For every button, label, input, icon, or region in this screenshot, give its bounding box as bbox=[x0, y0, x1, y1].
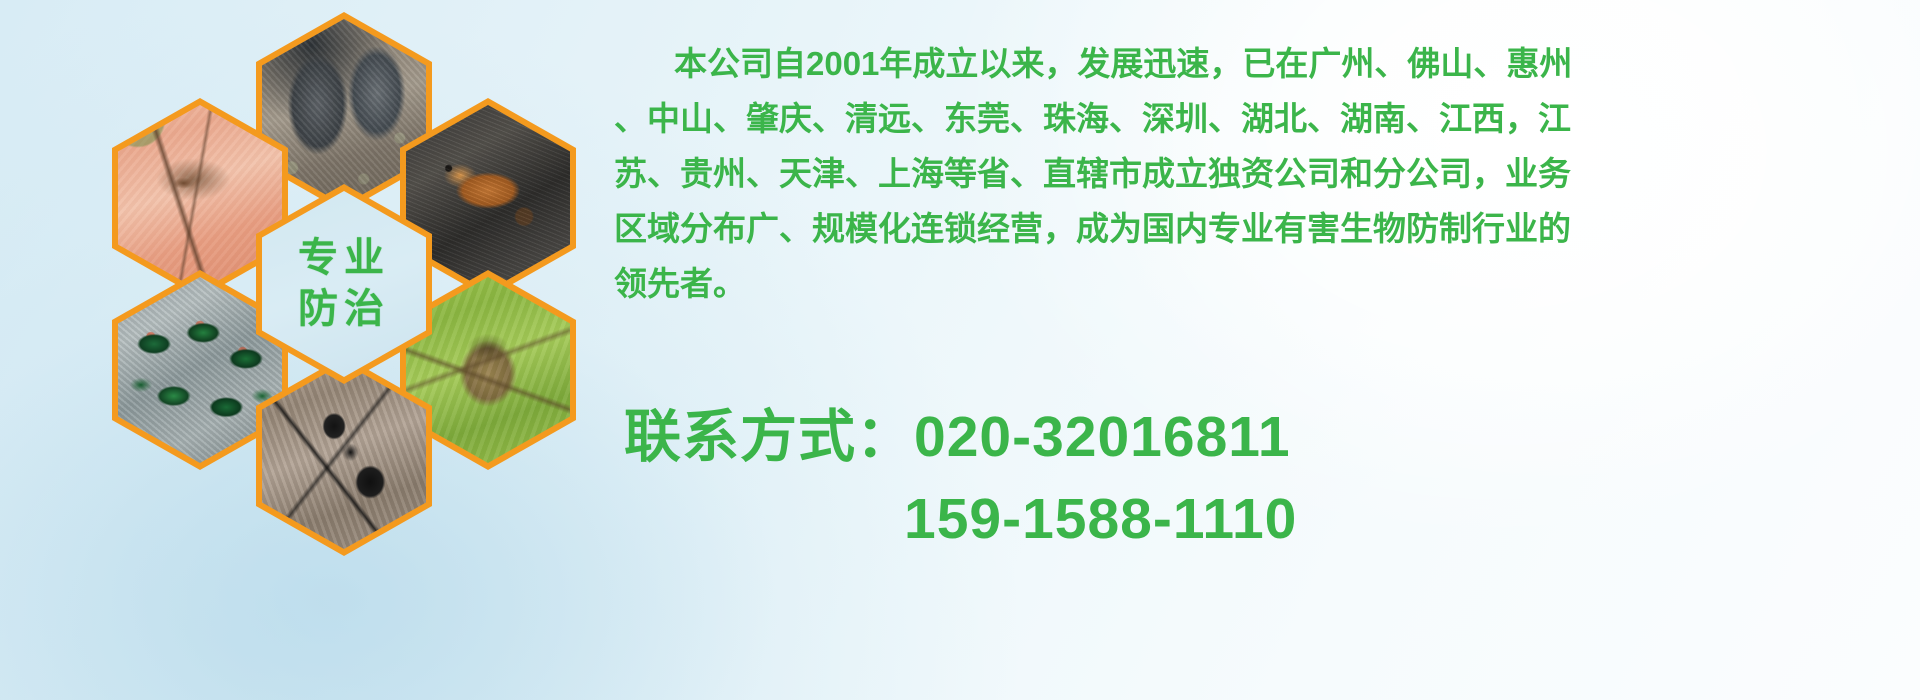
hex-inner-slogan: 专业 防治 bbox=[262, 191, 426, 377]
promo-banner: 专业 防治 本公司自2001年成立以来，发展迅速，已在广州、佛山、惠州 、中山、… bbox=[0, 0, 1920, 700]
slogan-line-2: 防治 bbox=[298, 284, 390, 335]
hexagon-photo-cluster: 专业 防治 bbox=[88, 0, 588, 580]
intro-line-2: 、中山、肇庆、清远、东莞、珠海、深圳、湖北、湖南、江西，江 bbox=[614, 91, 1906, 146]
contact-phone-landline[interactable]: 联系方式：020-32016811 bbox=[614, 396, 1906, 478]
contact-block: 联系方式：020-32016811 159-1588-1110 bbox=[614, 396, 1906, 560]
company-intro-paragraph: 本公司自2001年成立以来，发展迅速，已在广州、佛山、惠州 、中山、肇庆、清远、… bbox=[614, 36, 1906, 311]
intro-line-5: 领先者。 bbox=[614, 256, 1906, 311]
ant-photo bbox=[262, 363, 426, 549]
banner-content: 本公司自2001年成立以来，发展迅速，已在广州、佛山、惠州 、中山、肇庆、清远、… bbox=[614, 0, 1894, 700]
intro-line-1: 本公司自2001年成立以来，发展迅速，已在广州、佛山、惠州 bbox=[614, 36, 1906, 91]
slogan-line-1: 专业 bbox=[298, 233, 390, 284]
intro-line-3: 苏、贵州、天津、上海等省、直辖市成立独资公司和分公司，业务 bbox=[614, 146, 1906, 201]
intro-line-4: 区域分布广、规模化连锁经营，成为国内专业有害生物防制行业的 bbox=[614, 201, 1906, 256]
contact-phone-mobile[interactable]: 159-1588-1110 bbox=[614, 478, 1906, 560]
hex-inner-ant bbox=[262, 363, 426, 549]
